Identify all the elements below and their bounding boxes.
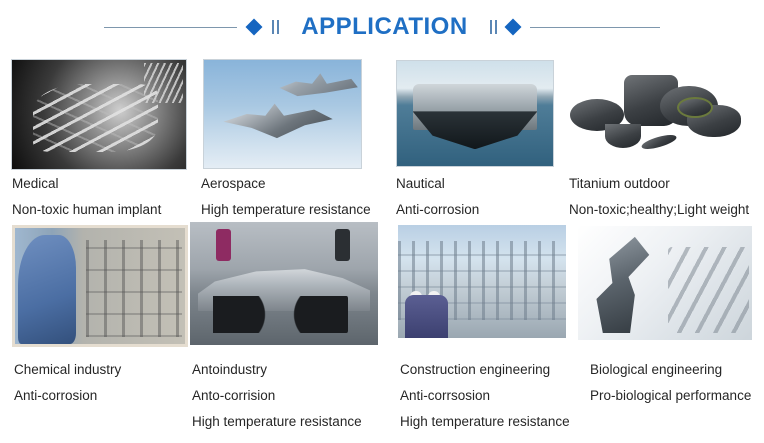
card-detail-auto-industry-2: High temperature resistance: [192, 415, 362, 429]
laboratory-microscopes-image: [578, 226, 752, 340]
application-card-chemical-industry[interactable]: Chemical industry Anti-corrosion: [0, 222, 190, 443]
page-title: APPLICATION: [279, 13, 489, 41]
thumbnail-nautical: [396, 60, 554, 167]
application-card-construction-engineering[interactable]: Construction engineering Anti-corrsosion…: [385, 222, 578, 443]
card-title-titanium-outdoor: Titanium outdoor: [569, 177, 670, 191]
titanium-cookware-image: [565, 58, 745, 165]
fighter-jets-image: [204, 60, 361, 168]
card-detail-construction-engineering-1: Anti-corrsosion: [400, 389, 490, 403]
bystander-left: [216, 229, 231, 261]
cookware-handle: [677, 97, 713, 118]
thumbnail-auto-industry: [190, 222, 378, 345]
application-card-aerospace[interactable]: Aerospace High temperature resistance: [190, 55, 385, 220]
card-title-auto-industry: Antoindustry: [192, 363, 267, 377]
card-detail-nautical-1: Anti-corrosion: [396, 203, 479, 217]
diamond-icon-right: [504, 19, 521, 36]
thumbnail-aerospace: [203, 59, 362, 169]
card-detail-biological-engineering-1: Pro-biological performance: [590, 389, 751, 403]
worker-helmet-right: [428, 291, 440, 302]
card-detail-aerospace-1: High temperature resistance: [201, 203, 371, 217]
thumbnail-chemical-industry: [12, 225, 188, 347]
thumbnail-construction-engineering: [398, 225, 566, 338]
silver-sports-car-image: [190, 222, 378, 345]
chemical-plant-worker-image: [15, 228, 185, 344]
card-title-medical: Medical: [12, 177, 59, 191]
card-title-chemical-industry: Chemical industry: [14, 363, 121, 377]
cookware-bowl: [605, 124, 641, 148]
bystander-right: [335, 229, 350, 261]
cookware-spoon: [640, 132, 677, 151]
application-card-auto-industry[interactable]: Antoindustry Anto-corrision High tempera…: [190, 222, 385, 443]
catamaran-ship-image: [397, 61, 553, 166]
worker-helmet-left: [410, 291, 422, 302]
card-detail-construction-engineering-2: High temperature resistance: [400, 415, 570, 429]
application-header: APPLICATION: [0, 0, 764, 54]
card-title-nautical: Nautical: [396, 177, 445, 191]
card-detail-chemical-industry-1: Anti-corrosion: [14, 389, 97, 403]
card-title-biological-engineering: Biological engineering: [590, 363, 722, 377]
thumbnail-titanium-outdoor: [565, 58, 745, 165]
application-card-biological-engineering[interactable]: Biological engineering Pro-biological pe…: [578, 222, 764, 443]
application-card-medical[interactable]: Medical Non-toxic human implant: [0, 55, 190, 220]
header-rule-left: [104, 27, 237, 28]
header-rule-right: [530, 27, 660, 28]
card-detail-medical-1: Non-toxic human implant: [12, 203, 161, 217]
refinery-construction-image: [398, 225, 566, 338]
double-bar-icon-left: [272, 20, 279, 34]
thumbnail-medical: [11, 59, 187, 170]
application-card-titanium-outdoor[interactable]: Titanium outdoor Non-toxic;healthy;Light…: [565, 55, 764, 220]
double-bar-icon-right: [490, 20, 497, 34]
card-title-aerospace: Aerospace: [201, 177, 266, 191]
diamond-icon-left: [246, 19, 263, 36]
application-card-nautical[interactable]: Nautical Anti-corrosion: [385, 55, 565, 220]
card-title-construction-engineering: Construction engineering: [400, 363, 550, 377]
card-detail-titanium-outdoor-1: Non-toxic;healthy;Light weight: [569, 203, 749, 217]
thumbnail-biological-engineering: [578, 226, 752, 340]
card-detail-auto-industry-1: Anto-corrision: [192, 389, 275, 403]
medical-instruments-image: [12, 60, 186, 169]
